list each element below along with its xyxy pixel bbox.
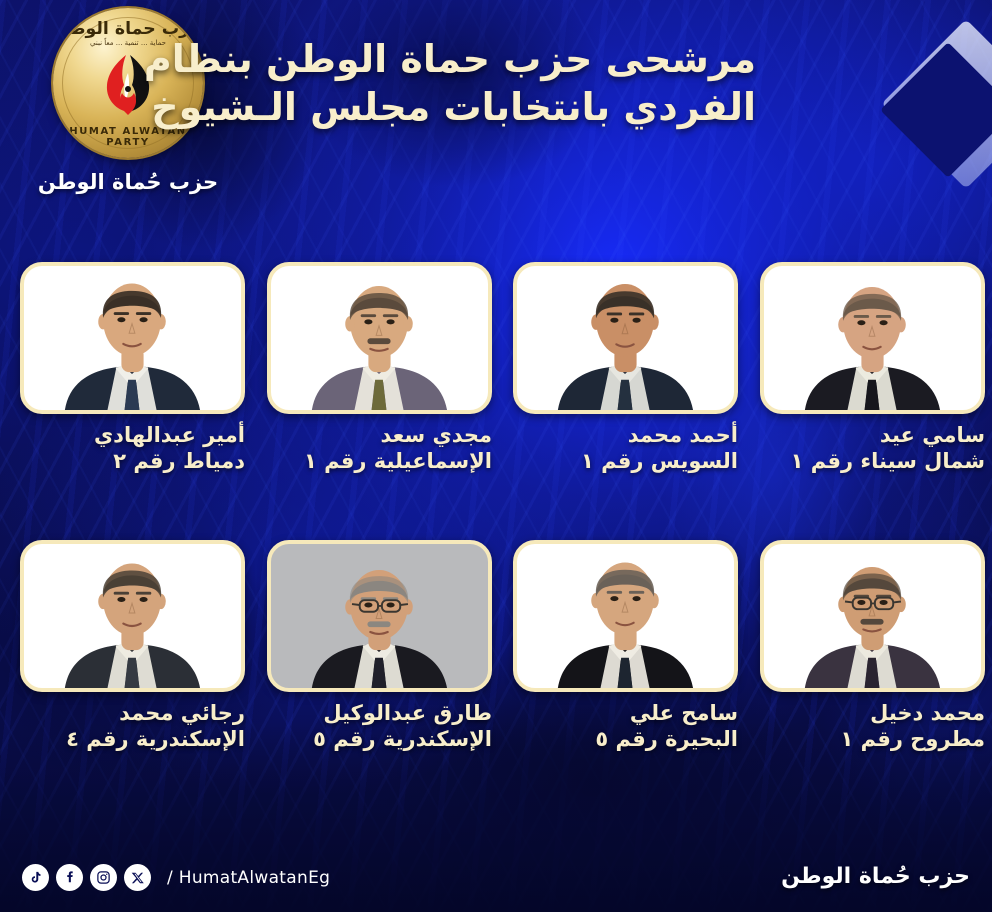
candidate-caption: رجائي محمد الإسكندرية رقم ٤: [20, 701, 245, 752]
candidate-photo: [267, 262, 492, 414]
facebook-icon[interactable]: [56, 864, 83, 891]
candidate-caption: طارق عبدالوكيل الإسكندرية رقم ٥: [267, 701, 492, 752]
candidate-portrait: [271, 544, 488, 691]
candidate-name: سامح علي: [513, 701, 738, 727]
candidate-card[interactable]: مجدي سعد الإسماعيلية رقم ١: [267, 262, 492, 474]
candidate-card[interactable]: طارق عبدالوكيل الإسكندرية رقم ٥: [267, 540, 492, 752]
candidate-card[interactable]: أحمد محمد السويس رقم ١: [513, 262, 738, 474]
candidate-portrait: [764, 266, 981, 413]
candidate-name: سامي عيد: [760, 423, 985, 449]
candidate-portrait: [517, 266, 734, 413]
candidate-portrait: [271, 266, 488, 413]
candidate-name: رجائي محمد: [20, 701, 245, 727]
candidate-name: أحمد محمد: [513, 423, 738, 449]
candidate-photo: [20, 262, 245, 414]
footer-party-name: حزب حُماة الوطن: [781, 864, 970, 889]
candidate-photo: [20, 540, 245, 692]
footer: / HumatAlwatanEg حزب حُماة الوطن: [0, 850, 992, 912]
candidate-name: أمير عبدالهادي: [20, 423, 245, 449]
x-twitter-icon[interactable]: [124, 864, 151, 891]
candidate-seat: الإسماعيلية رقم ١: [267, 449, 492, 475]
candidate-name: مجدي سعد: [267, 423, 492, 449]
candidate-seat: شمال سيناء رقم ١: [760, 449, 985, 475]
candidate-portrait: [764, 544, 981, 691]
candidate-card[interactable]: سامح علي البحيرة رقم ٥: [513, 540, 738, 752]
social-links: / HumatAlwatanEg: [22, 864, 330, 891]
candidate-photo: [513, 540, 738, 692]
candidate-grid: سامي عيد شمال سيناء رقم ١ أح: [0, 0, 992, 912]
candidate-photo: [760, 262, 985, 414]
instagram-icon[interactable]: [90, 864, 117, 891]
candidate-portrait: [24, 544, 241, 691]
candidate-caption: أحمد محمد السويس رقم ١: [513, 423, 738, 474]
candidate-seat: دمياط رقم ٢: [20, 449, 245, 475]
candidate-seat: البحيرة رقم ٥: [513, 727, 738, 753]
candidate-seat: مطروح رقم ١: [760, 727, 985, 753]
candidate-caption: سامح علي البحيرة رقم ٥: [513, 701, 738, 752]
candidate-seat: الإسكندرية رقم ٤: [20, 727, 245, 753]
candidate-caption: مجدي سعد الإسماعيلية رقم ١: [267, 423, 492, 474]
candidate-seat: السويس رقم ١: [513, 449, 738, 475]
candidate-caption: سامي عيد شمال سيناء رقم ١: [760, 423, 985, 474]
candidate-card[interactable]: محمد دخيل مطروح رقم ١: [760, 540, 985, 752]
candidate-card[interactable]: أمير عبدالهادي دمياط رقم ٢: [20, 262, 245, 474]
candidate-caption: محمد دخيل مطروح رقم ١: [760, 701, 985, 752]
candidate-caption: أمير عبدالهادي دمياط رقم ٢: [20, 423, 245, 474]
candidate-card[interactable]: سامي عيد شمال سيناء رقم ١: [760, 262, 985, 474]
candidate-portrait: [517, 544, 734, 691]
poster-canvas: حزب حماة الوطن حماية ... تنمية ... معاً …: [0, 0, 992, 912]
candidate-photo: [513, 262, 738, 414]
candidate-seat: الإسكندرية رقم ٥: [267, 727, 492, 753]
candidate-photo: [267, 540, 492, 692]
social-handle[interactable]: / HumatAlwatanEg: [167, 868, 330, 888]
tiktok-icon[interactable]: [22, 864, 49, 891]
candidate-name: طارق عبدالوكيل: [267, 701, 492, 727]
candidate-name: محمد دخيل: [760, 701, 985, 727]
candidate-card[interactable]: رجائي محمد الإسكندرية رقم ٤: [20, 540, 245, 752]
candidate-portrait: [24, 266, 241, 413]
candidate-photo: [760, 540, 985, 692]
